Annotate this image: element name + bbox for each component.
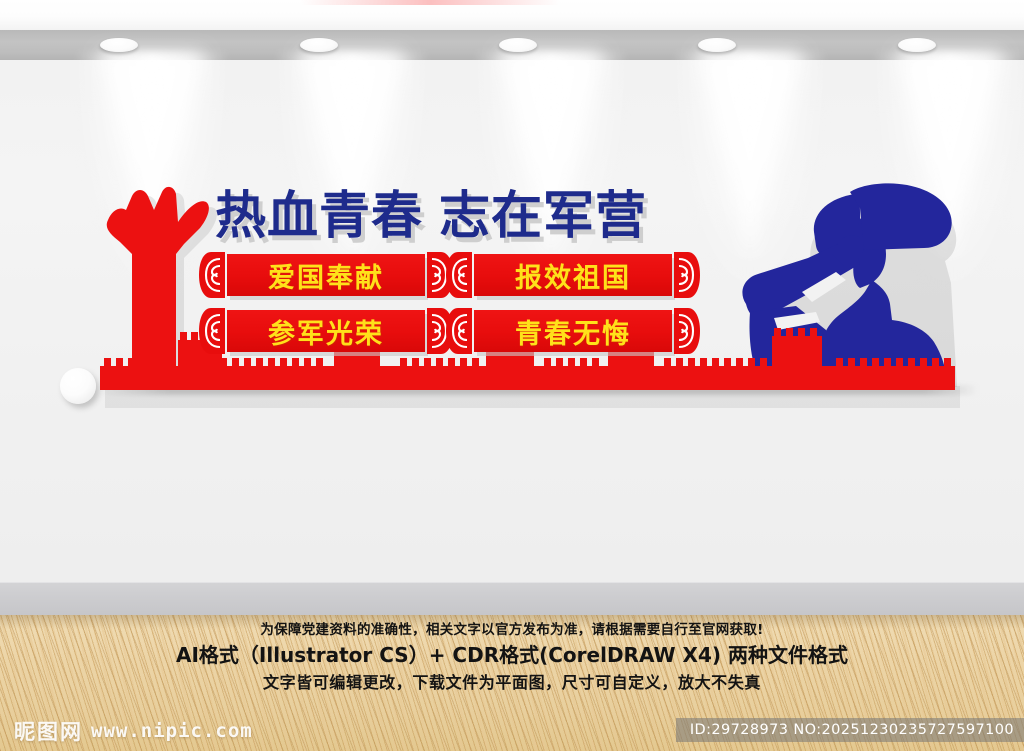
image-id-text: ID:29728973 NO:20251230235727597100	[690, 722, 1014, 738]
footer-line-1: 为保障党建资料的准确性，相关文字以官方发布为准，请根据需要自行至官网获取!	[0, 620, 1024, 640]
banner-top-right-text: 报效祖国	[515, 256, 631, 295]
footer-text-block: 为保障党建资料的准确性，相关文字以官方发布为准，请根据需要自行至官网获取! AI…	[0, 620, 1024, 696]
ceiling-spotlight-5	[898, 38, 936, 52]
mural-title: 热血青春志在军营	[215, 191, 647, 242]
banner-top-right: 报效祖国	[474, 254, 672, 296]
mural-title-part2: 志在军营	[439, 187, 647, 246]
banner-bottom-right: 青春无悔	[474, 310, 672, 352]
ceiling-upper-surface	[0, 0, 1024, 30]
banner-top-left-text: 爱国奉献	[268, 256, 384, 295]
site-watermark: 昵图网 www.nipic.com	[14, 716, 253, 746]
banner-top-left: 爱国奉献	[227, 254, 425, 296]
wall-mural-artwork: 热血青春志在军营 爱国奉献	[60, 180, 960, 420]
footer-line-3: 文字皆可编辑更改，下载文件为平面图，尺寸可自定义，放大不失真	[0, 670, 1024, 696]
scroll-ornament-left-icon	[199, 252, 225, 298]
ceiling-spotlight-1	[100, 38, 138, 52]
ceiling-spotlight-3	[499, 38, 537, 52]
ceiling-spotlight-4	[698, 38, 736, 52]
mural-title-part1: 热血青春	[215, 187, 423, 246]
screenshot-root: 热血青春志在军营 爱国奉献	[0, 0, 1024, 751]
scroll-ornament-right-icon	[674, 308, 700, 354]
watermark-site-url: www.nipic.com	[91, 720, 253, 742]
ceiling-spotlight-2	[300, 38, 338, 52]
footer-line-2: AI格式（Illustrator CS）+ CDR格式(CorelDRAW X4…	[0, 640, 1024, 670]
image-id-bar: ID:29728973 NO:20251230235727597100	[676, 718, 1024, 742]
scroll-ornament-left-icon	[446, 252, 472, 298]
scroll-ornament-left-icon	[446, 308, 472, 354]
scroll-ornament-left-icon	[199, 308, 225, 354]
banner-bottom-right-text: 青春无悔	[515, 312, 631, 351]
scroll-ornament-right-icon	[674, 252, 700, 298]
watermark-site-name: 昵图网	[14, 716, 83, 746]
wall-baseboard	[0, 582, 1024, 615]
banner-bottom-left-text: 参军光荣	[268, 312, 384, 351]
banner-bottom-left: 参军光荣	[227, 310, 425, 352]
